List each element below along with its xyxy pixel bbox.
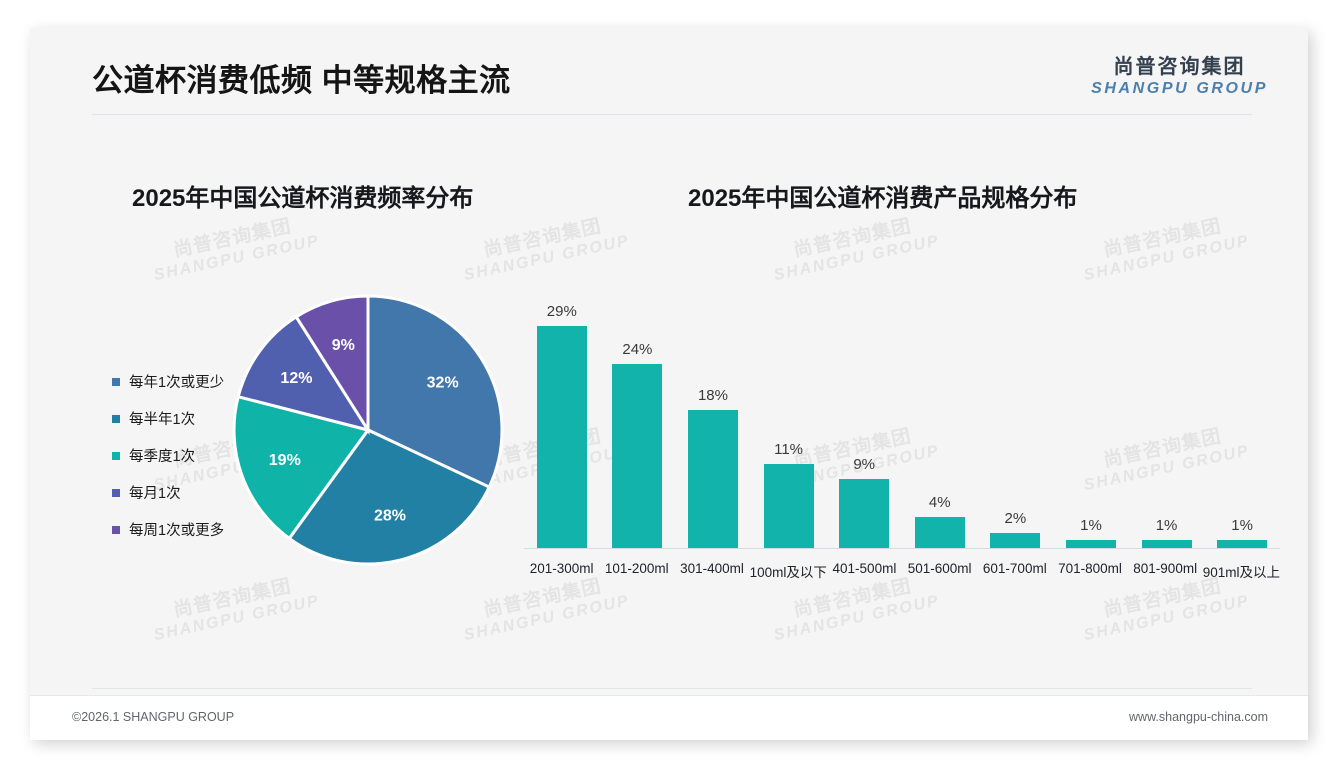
bar-value-label: 9% — [853, 456, 875, 473]
bar-category-label: 101-200ml — [599, 561, 674, 581]
copyright-text: ©2026.1 SHANGPU GROUP — [72, 710, 234, 724]
bar-category-label: 100ml及以下 — [750, 561, 827, 581]
pie-slice-value-label: 19% — [269, 452, 301, 469]
legend-swatch-icon — [112, 489, 120, 497]
watermark-text-cn: 尚普咨询集团 — [148, 211, 318, 268]
bar-value-label: 18% — [698, 387, 728, 404]
slide-header: 公道杯消费低频 中等规格主流 尚普咨询集团 SHANGPU GROUP — [30, 28, 1308, 118]
bar-value-label: 24% — [622, 341, 652, 358]
slide-canvas: 尚普咨询集团SHANGPU GROUP尚普咨询集团SHANGPU GROUP尚普… — [30, 28, 1308, 740]
legend-swatch-icon — [112, 415, 120, 423]
pie-slice-value-label: 12% — [280, 370, 312, 387]
page-title: 公道杯消费低频 中等规格主流 — [92, 55, 511, 100]
bar-column[interactable]: 4% — [902, 300, 978, 548]
pie-slice-value-label: 9% — [332, 337, 355, 354]
bar-rect[interactable] — [915, 517, 965, 548]
bar-chart-panel: 29%24%18%11%9%4%2%1%1%1% 201-300ml101-20… — [490, 273, 1290, 603]
bar-rect[interactable] — [612, 364, 662, 548]
pie-legend-label: 每周1次或更多 — [129, 519, 224, 540]
slide-footer: ©2026.1 SHANGPU GROUP www.shangpu-china.… — [30, 695, 1308, 740]
bar-rect[interactable] — [1217, 540, 1267, 548]
pie-chart-title: 2025年中国公道杯消费频率分布 — [132, 178, 473, 213]
bar-chart-axis-line — [524, 548, 1280, 549]
brand-logo: 尚普咨询集团 SHANGPU GROUP — [1091, 56, 1268, 98]
bar-value-label: 29% — [547, 303, 577, 320]
legend-swatch-icon — [112, 378, 120, 386]
bar-column[interactable]: 9% — [826, 300, 902, 548]
pie-legend-label: 每年1次或更少 — [129, 371, 224, 392]
bar-category-label: 501-600ml — [902, 561, 977, 581]
website-link[interactable]: www.shangpu-china.com — [1129, 710, 1268, 724]
bar-category-label: 401-500ml — [827, 561, 902, 581]
bar-column[interactable]: 2% — [978, 300, 1054, 548]
bar-category-label: 301-400ml — [674, 561, 749, 581]
header-divider — [92, 114, 1252, 115]
bar-column[interactable]: 1% — [1204, 300, 1280, 548]
brand-name-cn: 尚普咨询集团 — [1091, 56, 1268, 79]
bar-category-label: 901ml及以上 — [1203, 561, 1280, 581]
watermark-text-cn: 尚普咨询集团 — [1078, 211, 1248, 268]
bar-rect[interactable] — [688, 410, 738, 548]
bar-rect[interactable] — [537, 326, 587, 548]
bar-category-label: 801-900ml — [1128, 561, 1203, 581]
watermark-text-cn: 尚普咨询集团 — [458, 211, 628, 268]
bar-column[interactable]: 1% — [1129, 300, 1205, 548]
pie-legend-label: 每月1次 — [129, 482, 181, 503]
bar-rect[interactable] — [1142, 540, 1192, 548]
bar-rect[interactable] — [764, 464, 814, 548]
watermark-text-en: SHANGPU GROUP — [152, 592, 321, 645]
watermark-text: 尚普咨询集团SHANGPU GROUP — [148, 211, 322, 286]
pie-legend-label: 每半年1次 — [129, 408, 195, 429]
bar-column[interactable]: 24% — [600, 300, 676, 548]
pie-slice-value-label: 28% — [374, 508, 406, 525]
bar-category-label: 201-300ml — [524, 561, 599, 581]
bar-value-label: 11% — [774, 441, 803, 458]
bar-column[interactable]: 29% — [524, 300, 600, 548]
bar-chart-bars: 29%24%18%11%9%4%2%1%1%1% — [524, 300, 1280, 548]
bar-column[interactable]: 18% — [675, 300, 751, 548]
bar-rect[interactable] — [990, 533, 1040, 548]
bar-chart-title: 2025年中国公道杯消费产品规格分布 — [688, 178, 1077, 213]
watermark-text-cn: 尚普咨询集团 — [768, 211, 938, 268]
bar-value-label: 4% — [929, 494, 951, 511]
legend-swatch-icon — [112, 526, 120, 534]
bar-value-label: 1% — [1156, 517, 1178, 534]
pie-slice-value-label: 32% — [427, 375, 459, 392]
bar-chart-category-labels: 201-300ml101-200ml301-400ml100ml及以下401-5… — [524, 561, 1280, 581]
bar-rect[interactable] — [1066, 540, 1116, 548]
bar-value-label: 2% — [1005, 510, 1027, 527]
bar-value-label: 1% — [1231, 517, 1253, 534]
bar-rect[interactable] — [839, 479, 889, 548]
pie-legend-label: 每季度1次 — [129, 445, 195, 466]
footnote-divider — [92, 688, 1252, 689]
pie-chart-graphic: 32%28%19%12%9% — [228, 290, 508, 570]
pie-chart-panel: 每年1次或更少每半年1次每季度1次每月1次每周1次或更多 32%28%19%12… — [80, 278, 540, 598]
brand-name-en: SHANGPU GROUP — [1091, 79, 1268, 98]
bar-column[interactable]: 1% — [1053, 300, 1129, 548]
bar-column[interactable]: 11% — [751, 300, 827, 548]
bar-category-label: 601-700ml — [977, 561, 1052, 581]
bar-category-label: 701-800ml — [1052, 561, 1127, 581]
bar-value-label: 1% — [1080, 517, 1102, 534]
legend-swatch-icon — [112, 452, 120, 460]
